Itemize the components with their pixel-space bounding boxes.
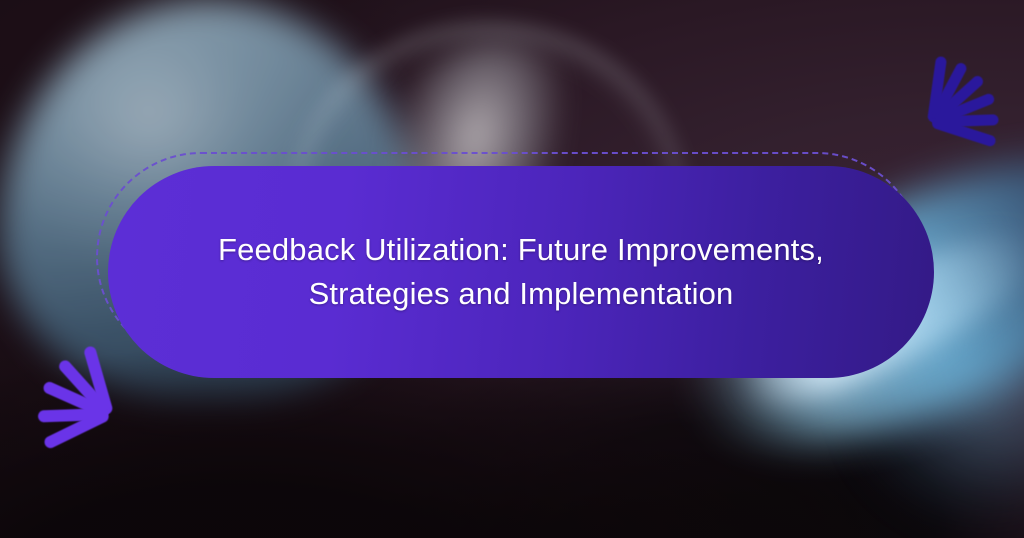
title-card: Feedback Utilization: Future Improvement… [108,166,934,378]
page-title: Feedback Utilization: Future Improvement… [218,228,824,316]
title-banner: Feedback Utilization: Future Improvement… [0,0,1024,538]
